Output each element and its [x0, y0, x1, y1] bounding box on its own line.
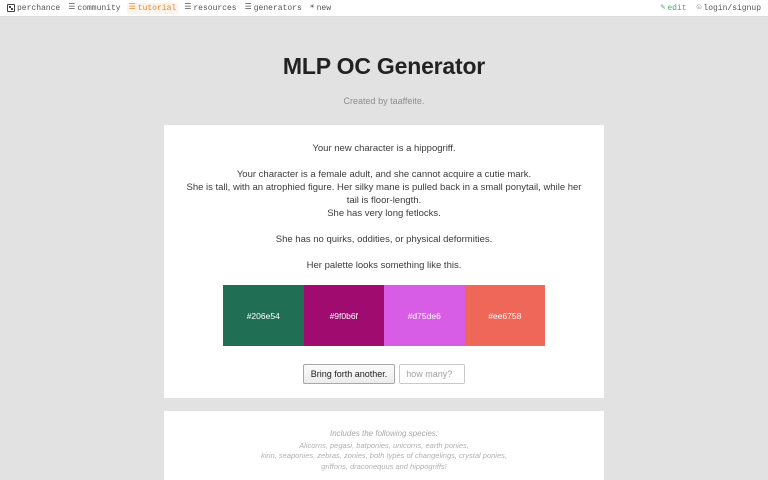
book-icon: ☰	[129, 4, 136, 12]
nav-item-new-label: new	[317, 4, 331, 13]
nav-item-login-signup[interactable]: ☺ login/signup	[695, 3, 763, 14]
navbar-left-group: perchance ☰ community ☰ tutorial ☰ resou…	[5, 3, 659, 14]
color-swatch-2-label: #9f0b6f	[330, 311, 358, 321]
description-line-2: She is tall, with an atrophied figure. H…	[186, 181, 582, 207]
color-swatch-1[interactable]: #206e54	[223, 285, 304, 346]
color-swatch-3[interactable]: #d75de6	[384, 285, 465, 346]
color-swatch-2[interactable]: #9f0b6f	[304, 285, 385, 346]
species-info-heading: Includes the following species:	[186, 429, 582, 440]
species-info-line-1: Alicorns, pegasi, batponies, unicorns, e…	[186, 441, 582, 452]
species-line: Your new character is a hippogriff.	[186, 142, 582, 155]
book-icon: ☰	[68, 4, 75, 12]
nav-item-new[interactable]: ☀ new	[308, 3, 333, 14]
top-navbar: perchance ☰ community ☰ tutorial ☰ resou…	[0, 0, 768, 17]
species-info-card: Includes the following species: Alicorns…	[164, 411, 604, 480]
nav-item-resources[interactable]: ☰ resources	[182, 3, 238, 14]
nav-item-edit[interactable]: ✎ edit	[659, 3, 689, 14]
nav-brand-perchance[interactable]: perchance	[5, 3, 62, 14]
page-title: MLP OC Generator	[0, 53, 768, 80]
nav-item-tutorial[interactable]: ☰ tutorial	[127, 3, 179, 14]
pencil-icon: ✎	[661, 4, 666, 12]
bring-forth-another-button[interactable]: Bring forth another.	[303, 364, 396, 384]
person-icon: ☺	[697, 4, 702, 12]
nav-item-generators[interactable]: ☰ generators	[243, 3, 304, 14]
description-line-1: Your character is a female adult, and sh…	[186, 168, 582, 181]
description-line-3: She has very long fetlocks.	[186, 207, 582, 220]
nav-item-login-signup-label: login/signup	[703, 4, 761, 13]
palette-intro-line: Her palette looks something like this.	[186, 259, 582, 272]
nav-brand-label: perchance	[17, 4, 60, 13]
navbar-right-group: ✎ edit ☺ login/signup	[659, 3, 763, 14]
nav-item-generators-label: generators	[254, 4, 302, 13]
color-swatch-4[interactable]: #ee6758	[465, 285, 546, 346]
nav-item-edit-label: edit	[667, 4, 686, 13]
color-swatch-1-label: #206e54	[247, 311, 280, 321]
book-icon: ☰	[184, 4, 191, 12]
color-palette: #206e54 #9f0b6f #d75de6 #ee6758	[223, 285, 545, 346]
perchance-logo-icon	[7, 4, 15, 12]
species-info-line-2: kirin, seaponies, zebras, zonies, both t…	[186, 451, 582, 462]
how-many-input[interactable]	[399, 364, 465, 384]
page-byline: Created by taaffeite.	[0, 96, 768, 106]
generator-output-card: Your new character is a hippogriff. Your…	[164, 125, 604, 398]
species-info-line-3: griffons, draconequus and hippogriffs!	[186, 462, 582, 473]
description-block: Your character is a female adult, and sh…	[186, 168, 582, 220]
color-swatch-4-label: #ee6758	[488, 311, 521, 321]
nav-item-community-label: community	[77, 4, 120, 13]
color-swatch-3-label: #d75de6	[408, 311, 441, 321]
nav-item-community[interactable]: ☰ community	[66, 3, 122, 14]
page-body: MLP OC Generator Created by taaffeite. Y…	[0, 17, 768, 480]
nav-item-resources-label: resources	[193, 4, 236, 13]
globe-icon: ☀	[310, 4, 315, 12]
nav-item-tutorial-label: tutorial	[138, 4, 176, 13]
generator-controls: Bring forth another.	[186, 364, 582, 384]
book-icon: ☰	[245, 4, 252, 12]
quirks-line: She has no quirks, oddities, or physical…	[186, 233, 582, 246]
